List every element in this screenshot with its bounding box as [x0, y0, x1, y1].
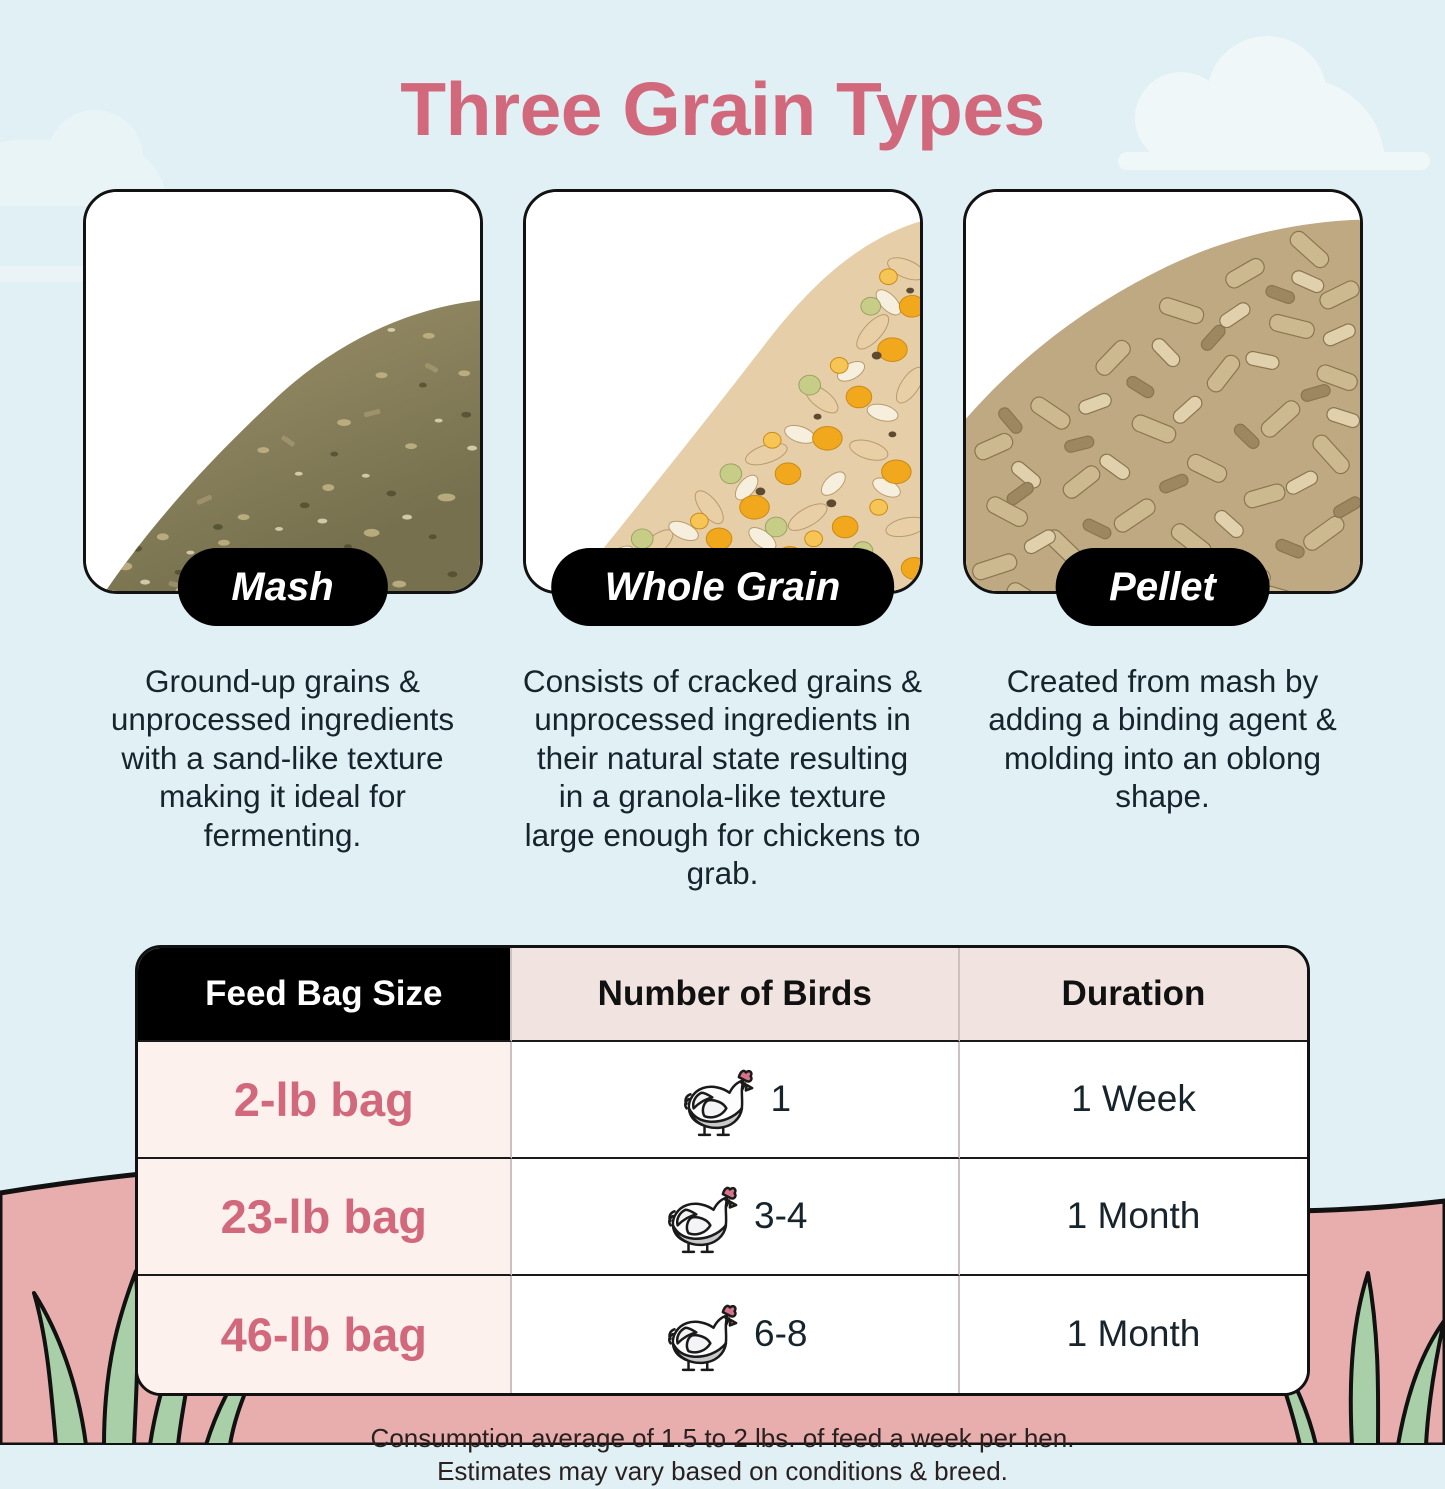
page-title: Three Grain Types	[0, 0, 1445, 147]
grain-type-card-list: Mash Ground-up grains & unprocessed ingr…	[0, 189, 1445, 893]
column-header-feed-bag-size: Feed Bag Size	[138, 948, 512, 1042]
whole-grain-photo-icon	[526, 192, 920, 591]
grain-card-whole-grain[interactable]: Whole Grain Consists of cracked grains &…	[523, 189, 923, 893]
pellet-image-card	[963, 189, 1363, 594]
footnote-line-1: Consumption average of 1.5 to 2 lbs. of …	[0, 1422, 1445, 1456]
chicken-icon	[678, 1060, 756, 1138]
table-row: 2-lb bag	[138, 1042, 1307, 1159]
mash-image-card	[83, 189, 483, 594]
cell-duration: 1 Month	[960, 1276, 1307, 1393]
grain-label-mash: Mash	[177, 548, 387, 626]
cell-number-of-birds: 1	[512, 1042, 960, 1159]
grain-description-mash: Ground-up grains & unprocessed ingredien…	[83, 662, 483, 854]
table-header-row: Feed Bag Size Number of Birds Duration	[138, 948, 1307, 1042]
whole-grain-image-card	[523, 189, 923, 594]
pellet-photo-icon	[966, 192, 1360, 591]
grain-label-whole-grain: Whole Grain	[551, 548, 895, 626]
cell-duration: 1 Month	[960, 1159, 1307, 1276]
cell-bag-size: 46-lb bag	[138, 1276, 512, 1393]
footnote-line-2: Estimates may vary based on conditions &…	[0, 1455, 1445, 1489]
chicken-icon	[662, 1295, 740, 1373]
cell-number-of-birds: 3-4	[512, 1159, 960, 1276]
table-row: 46-lb bag	[138, 1276, 1307, 1393]
cell-number-of-birds: 6-8	[512, 1276, 960, 1393]
column-header-number-of-birds: Number of Birds	[512, 948, 960, 1042]
grain-description-pellet: Created from mash by adding a binding ag…	[963, 662, 1363, 816]
grain-label-pellet: Pellet	[1055, 548, 1270, 626]
column-header-duration: Duration	[960, 948, 1307, 1042]
feed-bag-table: Feed Bag Size Number of Birds Duration 2…	[135, 945, 1310, 1396]
footnote: Consumption average of 1.5 to 2 lbs. of …	[0, 1422, 1445, 1489]
bird-count-value: 3-4	[754, 1195, 807, 1237]
cell-duration: 1 Week	[960, 1042, 1307, 1159]
bird-count-value: 1	[770, 1078, 791, 1120]
bird-count-value: 6-8	[754, 1313, 807, 1355]
cell-bag-size: 23-lb bag	[138, 1159, 512, 1276]
chicken-icon	[662, 1177, 740, 1255]
mash-grain-photo-icon	[86, 192, 480, 591]
grain-description-whole-grain: Consists of cracked grains & unprocessed…	[523, 662, 923, 893]
table-row: 23-lb bag	[138, 1159, 1307, 1276]
cell-bag-size: 2-lb bag	[138, 1042, 512, 1159]
grain-card-mash[interactable]: Mash Ground-up grains & unprocessed ingr…	[83, 189, 483, 893]
grain-card-pellet[interactable]: Pellet Created from mash by adding a bin…	[963, 189, 1363, 893]
